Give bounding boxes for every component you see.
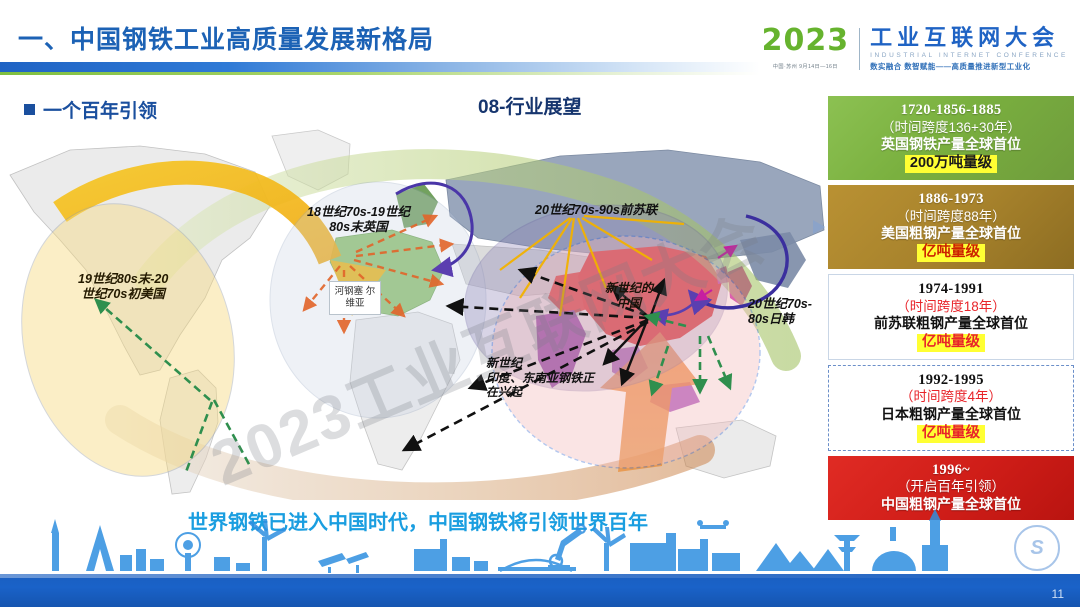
- corner-badge-icon: S: [1014, 525, 1060, 571]
- info-box-magnitude: 亿吨量级: [917, 334, 985, 352]
- bottom-bar: [0, 574, 1080, 607]
- info-box-span: （开启百年引领）: [834, 479, 1068, 495]
- logo-year: 2023: [762, 26, 850, 56]
- flow-arrow-icon: [813, 220, 825, 234]
- info-box-years: 1720-1856-1885: [834, 102, 1068, 120]
- conference-logo: 2023 中国·苏州 9月14日—16日 工业互联网大会 INDUSTRIAL …: [762, 26, 1068, 84]
- ellipse-china-region: [492, 236, 760, 468]
- info-box-years: 1974-1991: [835, 281, 1067, 299]
- info-box-span: （时间跨度88年）: [834, 209, 1068, 225]
- map-label-usa: 19世纪80s末-20 世纪70s初美国: [78, 272, 168, 303]
- world-map-svg: [0, 120, 836, 500]
- logo-year-subtitle: 中国·苏州 9月14日—16日: [762, 63, 850, 70]
- slide-root: 一、中国钢铁工业高质量发展新格局 2023 中国·苏州 9月14日—16日 工业…: [0, 0, 1080, 607]
- info-box-span: （时间跨度136+30年）: [834, 120, 1068, 136]
- map-callout-serbia: 河钢塞 尔维亚: [329, 281, 381, 315]
- title-rule-green: [0, 72, 760, 75]
- info-box-years: 1992-1995: [835, 372, 1067, 390]
- info-box-japan: 1992-1995 （时间跨度4年） 日本粗钢产量全球首位 亿吨量级: [828, 365, 1074, 451]
- logo-slogan: 数实融合 数智赋能——高质量推进新型工业化: [870, 61, 1068, 72]
- logo-year-block: 2023 中国·苏州 9月14日—16日: [762, 26, 860, 70]
- info-box-span: （时间跨度4年）: [835, 389, 1067, 405]
- info-box-desc: 美国粗钢产量全球首位: [834, 225, 1068, 242]
- bullet-heading-label: 一个百年引领: [43, 96, 157, 123]
- square-bullet-icon: [24, 104, 35, 115]
- page-number: 11: [1052, 587, 1064, 601]
- bullet-heading: 一个百年引领: [24, 96, 157, 123]
- section-label: 08-行业展望: [478, 92, 581, 119]
- skyline-decoration: [0, 505, 1080, 575]
- info-box-magnitude: 200万吨量级: [905, 155, 997, 173]
- info-box-magnitude: 亿吨量级: [917, 425, 985, 443]
- map-label-china: 新世纪的 中国: [605, 281, 653, 310]
- info-box-usa: 1886-1973 （时间跨度88年） 美国粗钢产量全球首位 亿吨量级: [828, 185, 1074, 269]
- info-box-years: 1886-1973: [834, 191, 1068, 209]
- info-box-uk: 1720-1856-1885 （时间跨度136+30年） 英国钢铁产量全球首位 …: [828, 96, 1074, 180]
- logo-english-title: INDUSTRIAL INTERNET CONFERENCE: [870, 52, 1068, 59]
- page-title: 一、中国钢铁工业高质量发展新格局: [18, 20, 434, 56]
- info-box-magnitude: 亿吨量级: [917, 244, 985, 262]
- logo-text-block: 工业互联网大会 INDUSTRIAL INTERNET CONFERENCE 数…: [860, 26, 1068, 72]
- timeline-info-box-list: 1720-1856-1885 （时间跨度136+30年） 英国钢铁产量全球首位 …: [828, 96, 1074, 525]
- world-map-diagram: 2023工业互联网大会: [0, 120, 836, 500]
- map-label-uk: 18世纪70s-19世纪 80s末英国: [307, 205, 410, 236]
- info-box-ussr: 1974-1991 （时间跨度18年） 前苏联粗钢产量全球首位 亿吨量级: [828, 274, 1074, 360]
- title-rule-blue: [0, 62, 760, 72]
- logo-main-title: 工业互联网大会: [870, 26, 1068, 49]
- info-box-desc: 前苏联粗钢产量全球首位: [835, 315, 1067, 332]
- map-label-japan-korea: 20世纪70s- 80s日韩: [748, 297, 812, 328]
- info-box-desc: 英国钢铁产量全球首位: [834, 136, 1068, 153]
- info-box-years: 1996~: [834, 462, 1068, 480]
- info-box-span: （时间跨度18年）: [835, 299, 1067, 315]
- info-box-desc: 日本粗钢产量全球首位: [835, 406, 1067, 423]
- map-label-india: 新世纪 印度、东南亚钢铁正 在兴起: [486, 356, 594, 400]
- map-label-ussr: 20世纪70s-90s前苏联: [535, 203, 657, 218]
